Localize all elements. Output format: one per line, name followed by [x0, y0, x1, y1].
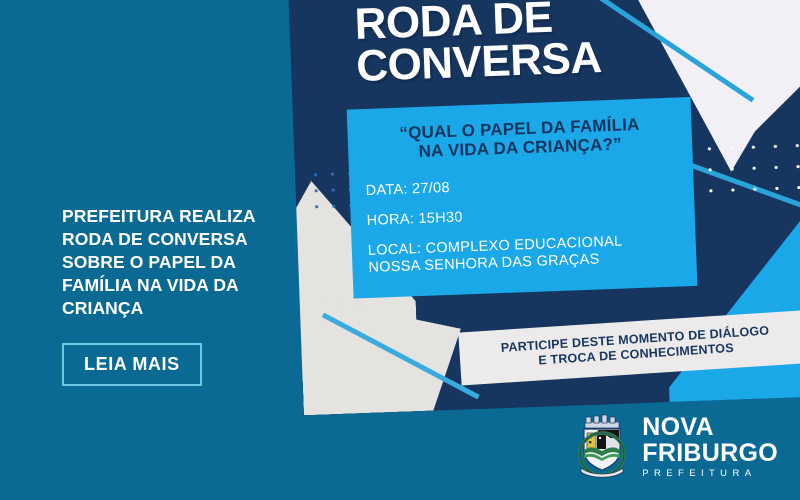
news-banner: “QUAL O PAPEL DA FAMÍLIA NA VIDA DA CRIA…	[0, 0, 800, 500]
city-hall-logo: NOVA FRIBURGO PREFEITURA	[573, 414, 778, 480]
read-more-button[interactable]: LEIA MAIS	[62, 343, 202, 386]
logo-line-1: NOVA	[642, 415, 778, 440]
decor-dot-grid	[676, 135, 800, 202]
coat-of-arms-icon	[573, 414, 631, 480]
quote-panel: “QUAL O PAPEL DA FAMÍLIA NA VIDA DA CRIA…	[347, 97, 698, 298]
poster-title: RODA DE CONVERSA	[354, 0, 602, 88]
poster-title-line-2: CONVERSA	[356, 37, 603, 88]
logo-line-3: PREFEITURA	[642, 469, 778, 479]
quote-text: “QUAL O PAPEL DA FAMÍLIA NA VIDA DA CRIA…	[363, 114, 676, 163]
logo-line-2: FRIBURGO	[642, 441, 778, 466]
news-text-column: PREFEITURA REALIZA RODA DE CONVERSA SOBR…	[62, 205, 292, 386]
event-details: DATA: 27/08 HORA: 15H30 LOCAL: COMPLEXO …	[365, 172, 680, 278]
event-time: HORA: 15H30	[367, 202, 679, 231]
poster-footer-text: PARTICIPE DESTE MOMENTO DE DIÁLOGO E TRO…	[469, 322, 800, 372]
event-location: LOCAL: COMPLEXO EDUCACIONAL NOSSA SENHOR…	[368, 232, 681, 278]
logo-wordmark: NOVA FRIBURGO PREFEITURA	[642, 415, 778, 479]
news-headline: PREFEITURA REALIZA RODA DE CONVERSA SOBR…	[62, 205, 292, 320]
event-date: DATA: 27/08	[365, 172, 677, 201]
